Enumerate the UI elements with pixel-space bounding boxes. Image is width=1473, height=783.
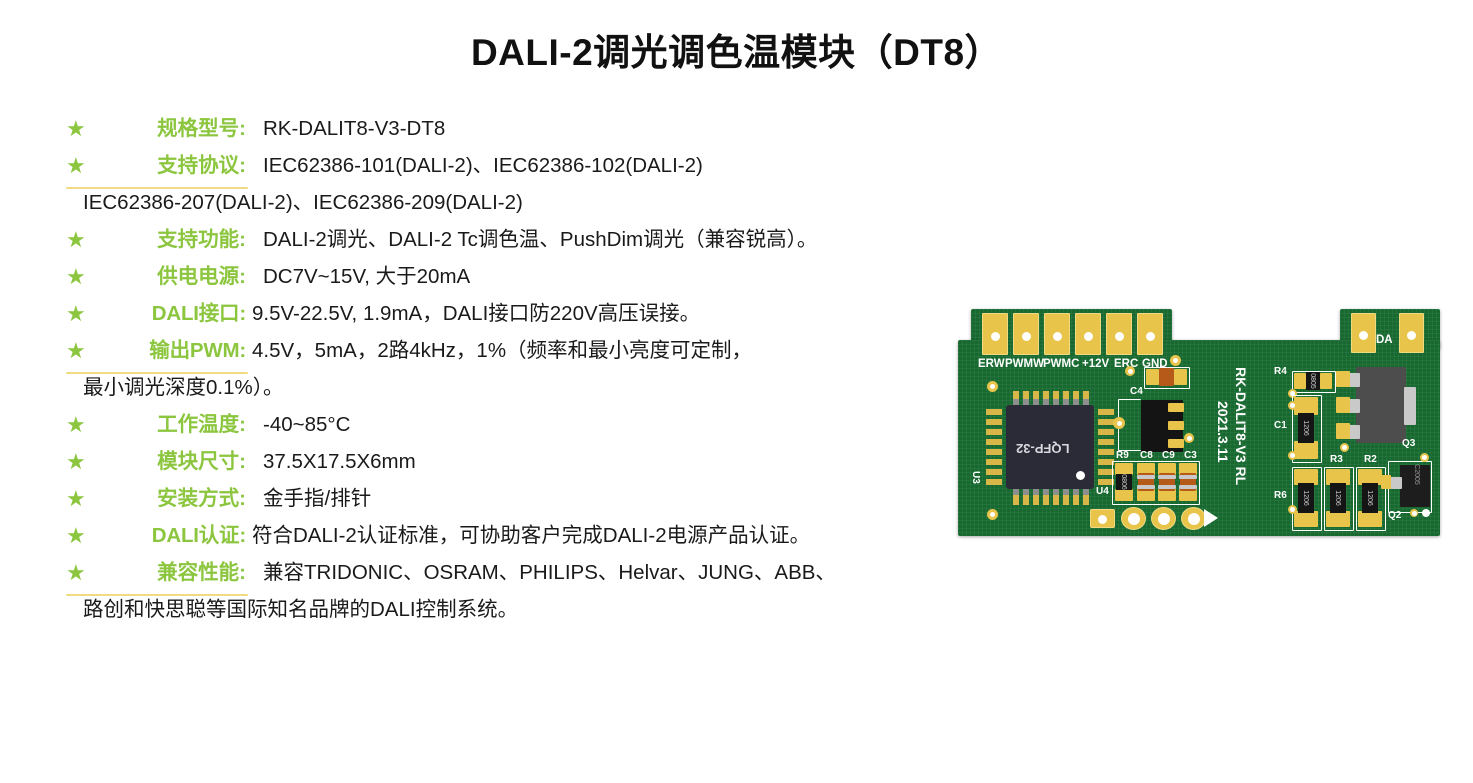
designator-r3: R3	[1330, 455, 1343, 465]
designator-c3: C3	[1184, 451, 1197, 461]
edge-pad-12v	[1075, 313, 1101, 355]
spec-row-model: ★ 规格型号: RK-DALIT8-V3-DT8	[66, 113, 1046, 150]
designator-c4: C4	[1130, 387, 1143, 397]
designator-q3: Q3	[1402, 439, 1415, 449]
spec-row-protocol: ★ 支持协议: IEC62386-101(DALI-2)、IEC62386-10…	[66, 150, 1046, 187]
pcb-product-image: ERW PWMW PWMC +12V ERC GND DA	[958, 309, 1440, 540]
spec-label: 支持协议:	[96, 150, 246, 182]
spec-label: DALI认证:	[96, 520, 246, 552]
spec-row-pwm-output: ★ 输出PWM: 4.5V，5mA，2路4kHz，1%（频率和最小亮度可定制，	[66, 335, 1046, 372]
spec-row-certification: ★ DALI认证: 符合DALI-2认证标准，可协助客户完成DALI-2电源产品…	[66, 520, 1046, 557]
pad-label-pwmc: PWMC	[1043, 359, 1079, 371]
star-icon: ★	[66, 409, 96, 441]
pad-label-pwmw: PWMW	[1005, 359, 1044, 371]
spec-value: 9.5V-22.5V, 1.9mA，DALI接口防220V高压误接。	[246, 298, 1046, 330]
transistor-q2: C2005	[1400, 465, 1430, 507]
designator-q2: Q2	[1388, 511, 1401, 521]
spec-row-temperature: ★ 工作温度: -40~85°C	[66, 409, 1046, 446]
spec-row-mounting: ★ 安装方式: 金手指/排针	[66, 483, 1046, 520]
designator-c1: C1	[1274, 421, 1287, 431]
spec-value: 金手指/排针	[246, 483, 1046, 515]
designator-c9: C9	[1162, 451, 1175, 461]
spec-value: -40~85°C	[246, 409, 1046, 441]
spec-row-protocol-cont: IEC62386-207(DALI-2)、IEC62386-209(DALI-2…	[66, 187, 1046, 224]
designator-u4: U4	[1096, 487, 1109, 497]
spec-value-cont: IEC62386-207(DALI-2)、IEC62386-209(DALI-2…	[66, 187, 1046, 224]
star-icon: ★	[66, 113, 96, 145]
pad-label-da: DA	[1376, 335, 1393, 347]
spacer	[66, 372, 248, 374]
star-icon: ★	[66, 298, 96, 330]
spec-row-pwm-output-cont: 最小调光深度0.1%）。	[66, 372, 1046, 409]
star-icon: ★	[66, 224, 96, 256]
spec-value: 兼容TRIDONIC、OSRAM、PHILIPS、Helvar、JUNG、ABB…	[246, 557, 1046, 589]
spec-row-compatibility: ★ 兼容性能: 兼容TRIDONIC、OSRAM、PHILIPS、Helvar、…	[66, 557, 1046, 594]
spacer	[66, 594, 248, 596]
designator-r6: R6	[1274, 491, 1287, 501]
spec-value: DC7V~15V, 大于20mA	[246, 261, 1046, 293]
pad-label-erw: ERW	[978, 359, 1005, 371]
spec-label: 供电电源:	[96, 261, 246, 293]
spec-label: 工作温度:	[96, 409, 246, 441]
edge-pad-gnd	[1137, 313, 1163, 355]
edge-pad-pwmw	[1013, 313, 1039, 355]
mcu-chip-label: LQFP-32	[1016, 441, 1069, 456]
spec-label: 兼容性能:	[96, 557, 246, 589]
designator-c8: C8	[1140, 451, 1153, 461]
star-icon: ★	[66, 446, 96, 478]
spec-row-function: ★ 支持功能: DALI-2调光、DALI-2 Tc调色温、PushDim调光（…	[66, 224, 1046, 261]
spec-row-compatibility-cont: 路创和快思聪等国际知名品牌的DALI控制系统。	[66, 594, 1046, 631]
mcu-chip-lqfp32: LQFP-32	[1006, 405, 1094, 489]
star-icon: ★	[66, 557, 96, 589]
specification-list: ★ 规格型号: RK-DALIT8-V3-DT8 ★ 支持协议: IEC6238…	[66, 113, 1046, 631]
spec-value: IEC62386-101(DALI-2)、IEC62386-102(DALI-2…	[246, 150, 1046, 182]
spec-label: 安装方式:	[96, 483, 246, 515]
silkscreen-date: 2021.3.11	[1216, 401, 1230, 463]
spec-row-power: ★ 供电电源: DC7V~15V, 大于20mA	[66, 261, 1046, 298]
spec-row-dali-interface: ★ DALI接口: 9.5V-22.5V, 1.9mA，DALI接口防220V高…	[66, 298, 1046, 335]
spec-value-cont: 最小调光深度0.1%）。	[66, 372, 1046, 409]
polarity-marker-icon	[1204, 509, 1218, 527]
spec-row-dimensions: ★ 模块尺寸: 37.5X17.5X6mm	[66, 446, 1046, 483]
designator-r2: R2	[1364, 455, 1377, 465]
star-icon: ★	[66, 483, 96, 515]
star-icon: ★	[66, 150, 96, 182]
designator-u3: U3	[970, 471, 980, 484]
spec-label: 输出PWM:	[96, 335, 246, 367]
spec-value: 37.5X17.5X6mm	[246, 446, 1046, 478]
spec-value: DALI-2调光、DALI-2 Tc调色温、PushDim调光（兼容锐高）。	[246, 224, 1046, 256]
spec-label: 支持功能:	[96, 224, 246, 256]
dali-pad-right	[1399, 313, 1424, 353]
spec-label: 规格型号:	[96, 113, 246, 145]
star-icon: ★	[66, 520, 96, 552]
spec-value: 4.5V，5mA，2路4kHz，1%（频率和最小亮度可定制，	[246, 335, 1046, 367]
designator-r9: R9	[1116, 451, 1129, 461]
spec-label: 模块尺寸:	[96, 446, 246, 478]
star-icon: ★	[66, 261, 96, 293]
edge-pad-pwmc	[1044, 313, 1070, 355]
star-icon: ★	[66, 335, 96, 367]
spec-value: RK-DALIT8-V3-DT8	[246, 113, 1046, 145]
silkscreen-model: RK-DALIT8-V3 RL	[1234, 367, 1248, 485]
spec-label: DALI接口:	[96, 298, 246, 330]
spec-value-cont: 路创和快思聪等国际知名品牌的DALI控制系统。	[66, 594, 1046, 631]
mosfet-q3	[1356, 367, 1406, 443]
dali-pad-left	[1351, 313, 1376, 353]
edge-pad-erw	[982, 313, 1008, 355]
spec-value: 符合DALI-2认证标准，可协助客户完成DALI-2电源产品认证。	[246, 520, 1046, 552]
pad-label-12v: +12V	[1082, 359, 1109, 371]
page-title: DALI-2调光调色温模块（DT8）	[0, 22, 1473, 76]
spacer	[66, 187, 248, 189]
edge-pad-erc	[1106, 313, 1132, 355]
designator-r4: R4	[1274, 367, 1287, 377]
